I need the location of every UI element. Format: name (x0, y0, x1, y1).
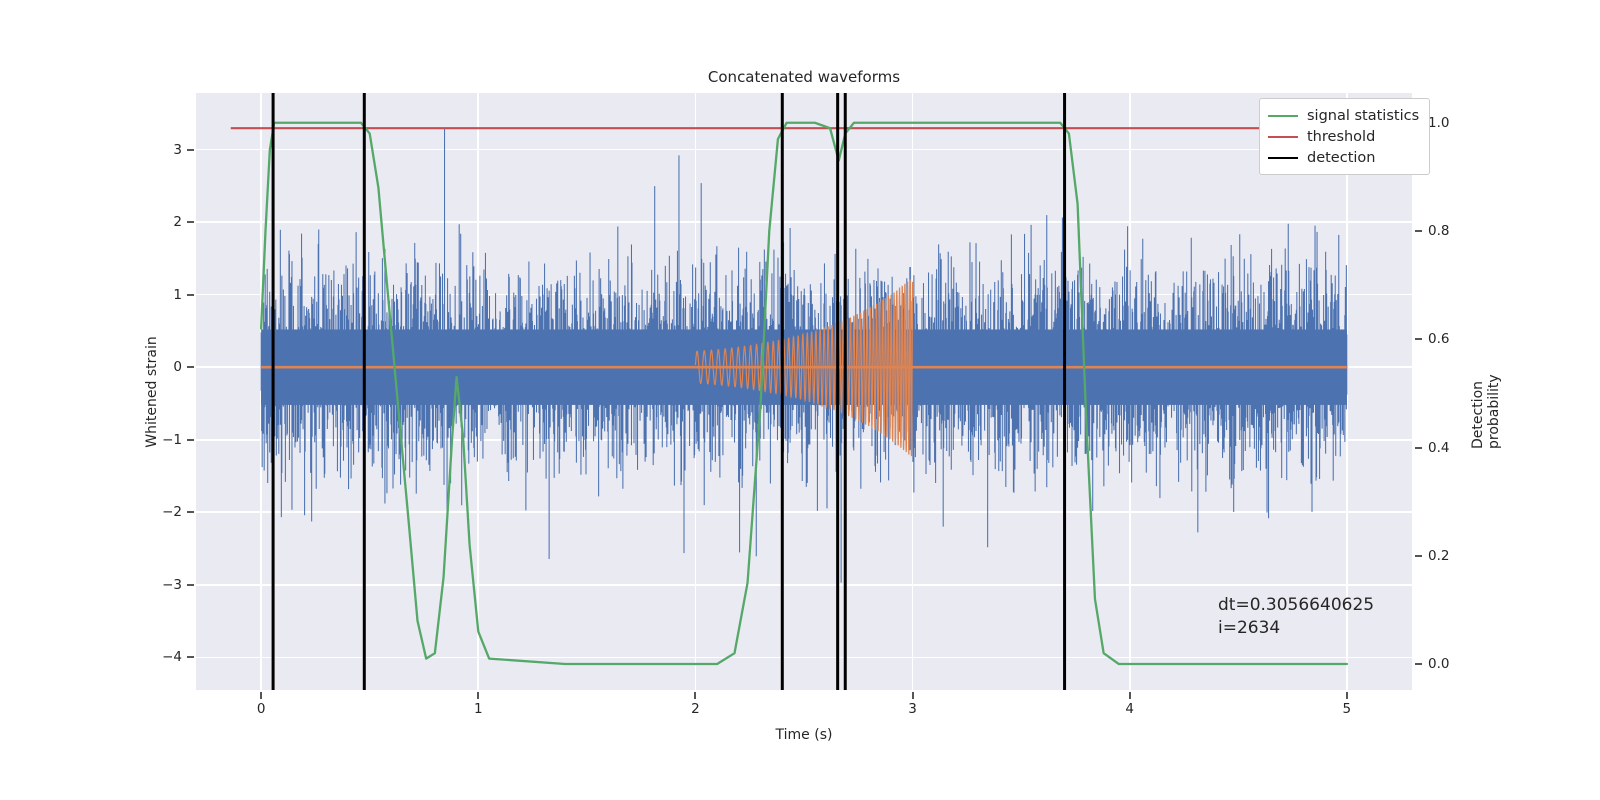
legend-item-threshold[interactable]: threshold (1268, 126, 1419, 147)
tick-mark (912, 692, 914, 699)
figure-canvas: Concatenated waveforms Whitened strain D… (0, 0, 1600, 800)
y-axis-right-tick-label: 0.6 (1428, 331, 1449, 347)
y-axis-right-tick-label: 0.2 (1428, 548, 1449, 564)
x-axis-tick-label: 2 (691, 701, 700, 717)
legend-item-detection[interactable]: detection (1268, 147, 1419, 168)
legend-swatch-icon (1268, 115, 1298, 117)
legend-item-signal-statistics[interactable]: signal statistics (1268, 105, 1419, 126)
y-axis-right-tick-label: 1.0 (1428, 115, 1449, 131)
tick-mark (187, 656, 194, 658)
x-axis-tick-label: 5 (1343, 701, 1352, 717)
tick-mark (694, 692, 696, 699)
tick-mark (1415, 447, 1422, 449)
tick-mark (187, 511, 194, 513)
legend-swatch-icon (1268, 157, 1298, 159)
tick-mark (1415, 230, 1422, 232)
tick-mark (1129, 692, 1131, 699)
y-axis-left-tick-label: 3 (173, 142, 182, 158)
tick-mark (187, 149, 194, 151)
y-axis-right-label: Detection probability (1470, 335, 1502, 449)
x-axis-tick-label: 3 (908, 701, 917, 717)
y-axis-right-tick-label: 0.0 (1428, 656, 1449, 672)
x-axis-tick-label: 4 (1125, 701, 1134, 717)
x-axis-tick-label: 0 (257, 701, 266, 717)
x-axis-tick-label: 1 (474, 701, 483, 717)
legend-label: signal statistics (1307, 108, 1419, 124)
x-axis-label: Time (s) (196, 727, 1412, 743)
tick-mark (187, 439, 194, 441)
legend-label: detection (1307, 150, 1375, 166)
annotation-text: dt=0.3056640625 i=2634 (1218, 594, 1374, 640)
tick-mark (187, 294, 194, 296)
legend-label: threshold (1307, 129, 1375, 145)
y-axis-right-tick-label: 0.4 (1428, 440, 1449, 456)
tick-mark (477, 692, 479, 699)
tick-mark (187, 221, 194, 223)
tick-mark (187, 366, 194, 368)
tick-mark (1346, 692, 1348, 699)
tick-mark (1415, 555, 1422, 557)
y-axis-left-tick-label: −2 (162, 504, 182, 520)
y-axis-left-label: Whitened strain (144, 336, 160, 447)
signal-statistics-curve (261, 123, 1347, 664)
page-title: Concatenated waveforms (196, 68, 1412, 86)
y-axis-left-tick-label: 0 (173, 359, 182, 375)
legend-swatch-icon (1268, 136, 1298, 138)
y-axis-left-tick-label: −4 (162, 649, 182, 665)
tick-mark (1415, 663, 1422, 665)
tick-mark (260, 692, 262, 699)
y-axis-left-tick-label: 2 (173, 214, 182, 230)
legend[interactable]: signal statisticsthresholddetection (1259, 98, 1430, 175)
tick-mark (187, 584, 194, 586)
y-axis-left-tick-label: 1 (173, 287, 182, 303)
y-axis-right-tick-label: 0.8 (1428, 223, 1449, 239)
tick-mark (1415, 338, 1422, 340)
y-axis-left-tick-label: −3 (162, 577, 182, 593)
y-axis-left-tick-label: −1 (162, 432, 182, 448)
